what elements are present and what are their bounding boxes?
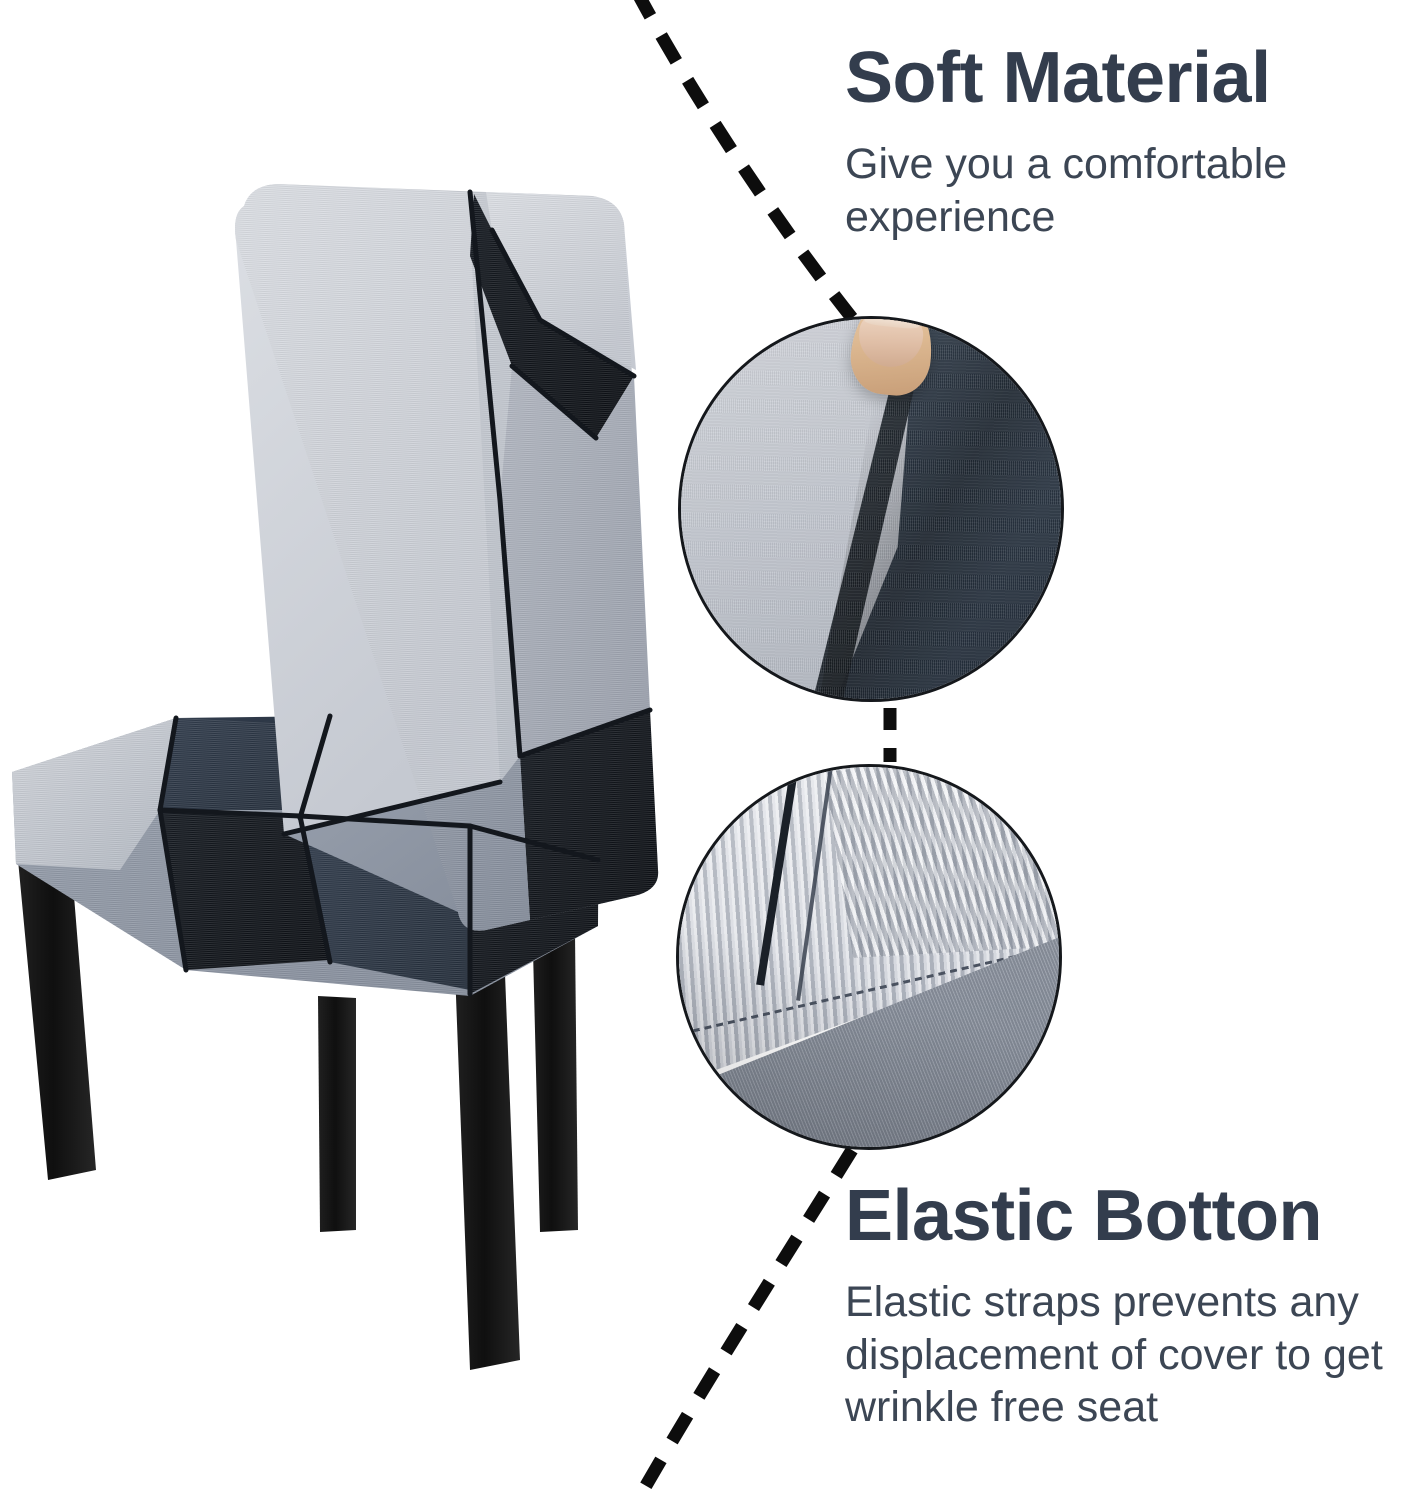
elastic-bottom-text-block: Elastic Botton Elastic straps prevents a…	[845, 1178, 1405, 1434]
elastic-bottom-description: Elastic straps prevents any displacement…	[845, 1276, 1405, 1433]
nail-tip	[864, 316, 920, 330]
hem-shadow	[679, 767, 1059, 1147]
fingernail-icon	[856, 316, 925, 370]
soft-material-detail-photo	[678, 316, 1064, 702]
chair-illustration	[0, 170, 680, 1430]
elastic-bottom-title: Elastic Botton	[845, 1178, 1405, 1254]
infographic-canvas: Soft Material Give you a comfortable exp…	[0, 0, 1418, 1500]
soft-material-text-block: Soft Material Give you a comfortable exp…	[845, 40, 1405, 243]
elastic-bottom-detail-photo	[676, 764, 1062, 1150]
soft-material-description: Give you a comfortable experience	[845, 138, 1405, 243]
soft-material-title: Soft Material	[845, 40, 1405, 116]
